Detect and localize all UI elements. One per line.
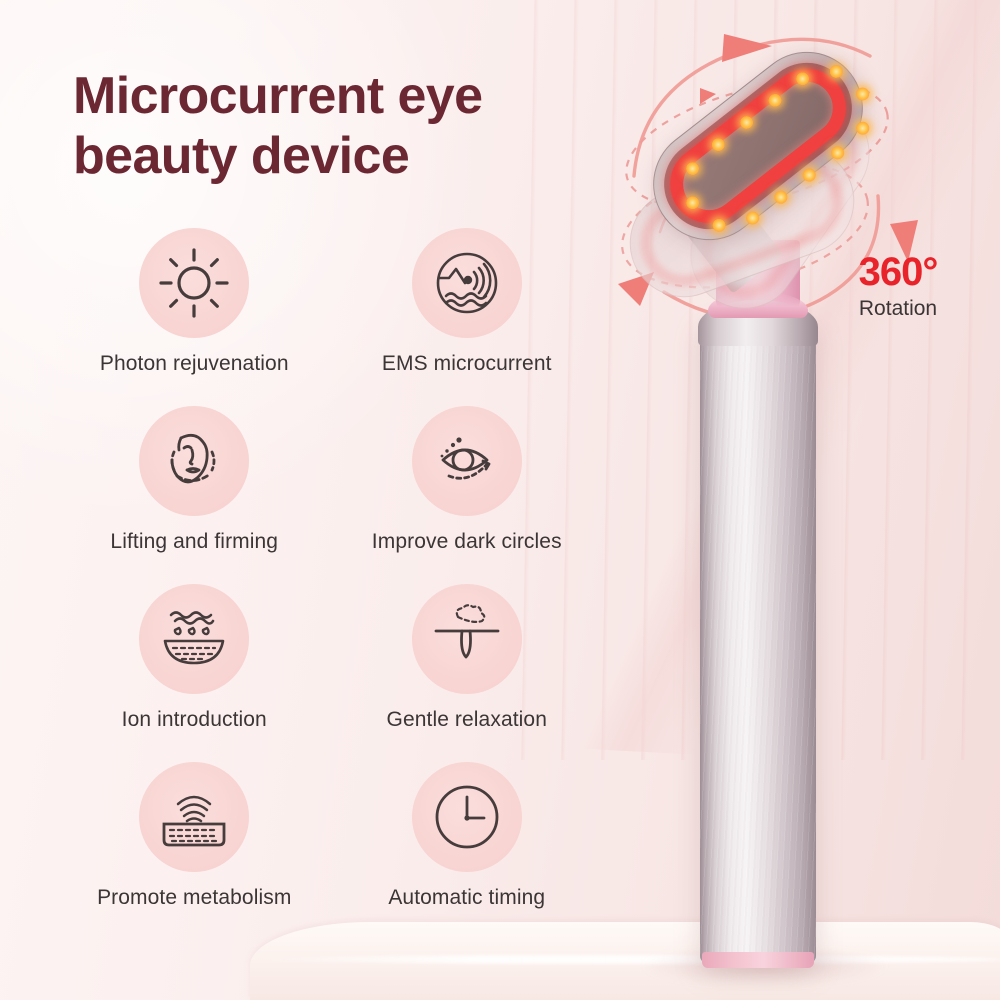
background-drape	[579, 0, 1000, 770]
sun-icon	[158, 247, 230, 319]
feature-item-automatic-timing: Automatic timing	[331, 762, 604, 910]
page-title-line-1: Microcurrent eye	[73, 66, 633, 126]
feature-badge	[139, 584, 249, 694]
feature-badge	[139, 228, 249, 338]
feature-item-improve-dark-circles: Improve dark circles	[331, 406, 604, 554]
feature-badge	[412, 228, 522, 338]
feature-badge	[139, 762, 249, 872]
page-title: Microcurrent eye beauty device	[73, 66, 633, 187]
feature-label: Improve dark circles	[372, 530, 562, 554]
feature-badge	[139, 406, 249, 516]
pore-steam-icon	[428, 603, 506, 675]
feature-item-photon-rejuvenation: Photon rejuvenation	[58, 228, 331, 376]
rotation-word: Rotation	[838, 297, 958, 321]
feature-item-ems-microcurrent: EMS microcurrent	[331, 228, 604, 376]
feature-label: Gentle relaxation	[387, 708, 547, 732]
pedestal-highlight	[258, 955, 1000, 964]
skin-waves-icon	[154, 780, 234, 854]
rotation-degrees: 360°	[838, 252, 958, 292]
feature-label: Automatic timing	[388, 886, 545, 910]
feature-item-promote-metabolism: Promote metabolism	[58, 762, 331, 910]
feature-item-ion-introduction: Ion introduction	[58, 584, 331, 732]
feature-label: EMS microcurrent	[382, 352, 552, 376]
ems-signal-icon	[428, 244, 506, 322]
feature-label: Ion introduction	[122, 708, 267, 732]
feature-label: Photon rejuvenation	[100, 352, 289, 376]
feature-item-lifting-and-firming: Lifting and firming	[58, 406, 331, 554]
rotation-label: 360° Rotation	[838, 252, 958, 321]
feature-label: Promote metabolism	[97, 886, 291, 910]
clock-icon	[430, 780, 504, 854]
eye-icon	[427, 426, 507, 496]
feature-badge	[412, 762, 522, 872]
water-droplets-icon	[155, 603, 233, 675]
feature-badge	[412, 406, 522, 516]
face-lifting-icon	[157, 424, 231, 498]
feature-badge	[412, 584, 522, 694]
feature-label: Lifting and firming	[110, 530, 278, 554]
feature-grid: Photon rejuvenation EMS microcurrent	[58, 228, 603, 910]
feature-item-gentle-relaxation: Gentle relaxation	[331, 584, 604, 732]
page-title-line-2: beauty device	[73, 126, 633, 186]
